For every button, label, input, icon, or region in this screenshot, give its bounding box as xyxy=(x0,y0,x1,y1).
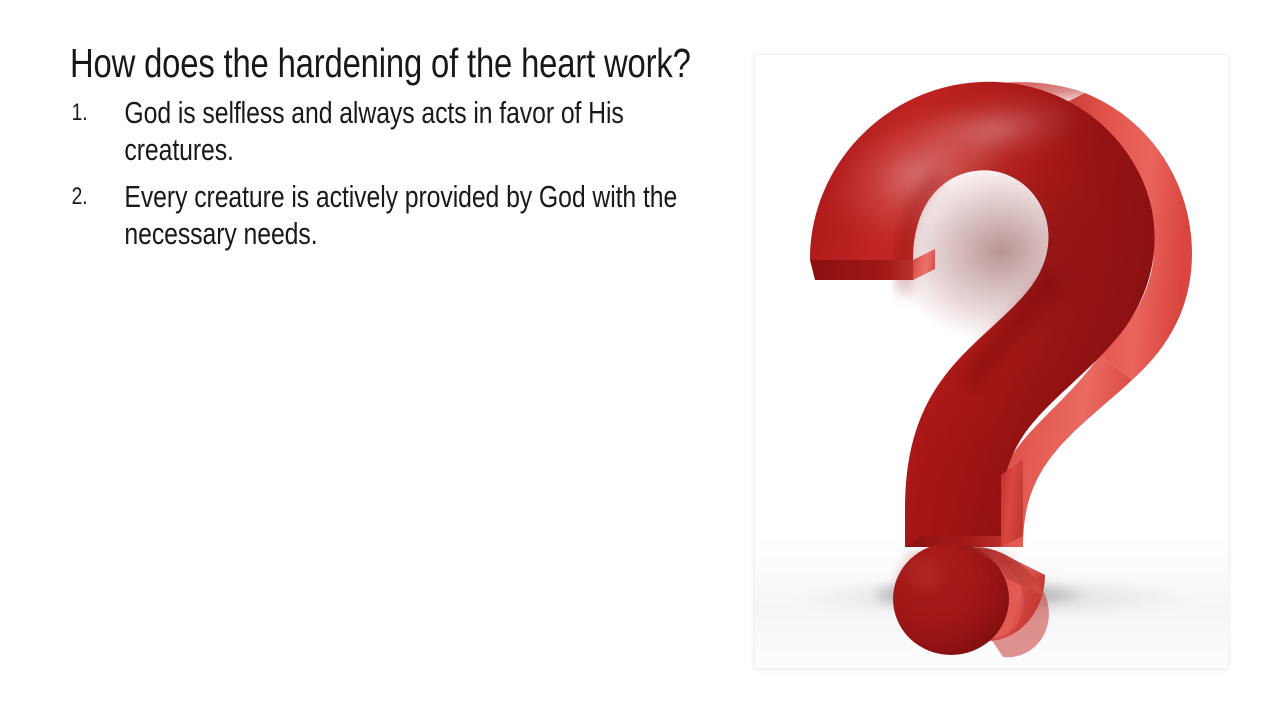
list-item-number: 1. xyxy=(70,94,124,131)
question-mark-svg xyxy=(755,55,1228,668)
numbered-list: 1. God is selfless and always acts in fa… xyxy=(70,94,718,252)
text-content-block: How does the hardening of the heart work… xyxy=(70,38,720,262)
list-item-text: God is selfless and always acts in favor… xyxy=(124,94,718,168)
list-item-number: 2. xyxy=(70,178,124,215)
list-item: 1. God is selfless and always acts in fa… xyxy=(70,94,718,168)
qmark-front-face xyxy=(810,82,1155,547)
question-mark-3d-icon xyxy=(755,55,1228,668)
list-item-text: Every creature is actively provided by G… xyxy=(124,178,718,252)
qmark-dot xyxy=(893,543,1049,657)
slide-canvas: How does the hardening of the heart work… xyxy=(0,0,1280,720)
image-card xyxy=(755,55,1228,668)
list-item: 2. Every creature is actively provided b… xyxy=(70,178,718,252)
page-title: How does the hardening of the heart work… xyxy=(70,38,718,88)
